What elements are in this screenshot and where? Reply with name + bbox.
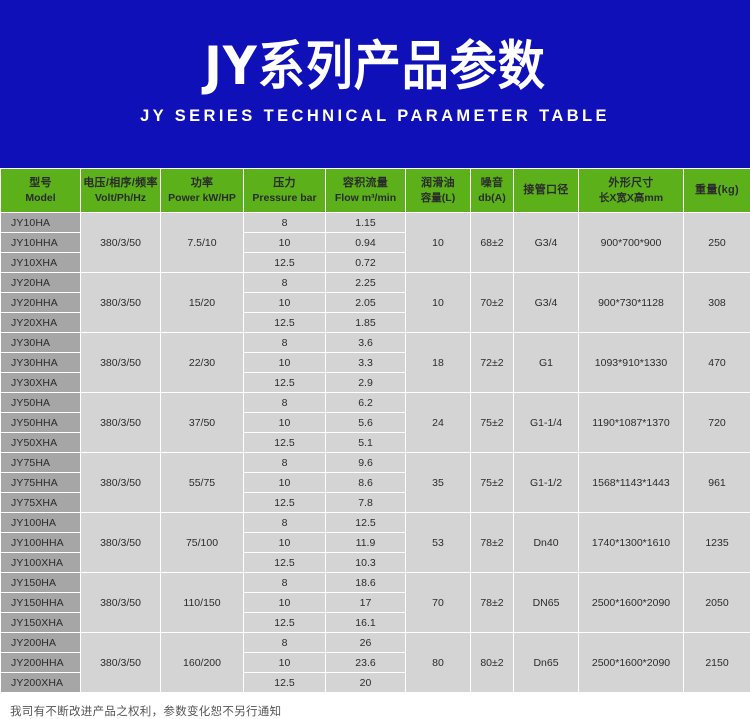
cell-pressure: 12.5 <box>244 433 326 453</box>
cell-pressure: 10 <box>244 233 326 253</box>
cell-pressure: 10 <box>244 653 326 673</box>
column-header-cn: 功率 <box>161 176 243 191</box>
cell-flow: 1.15 <box>326 213 406 233</box>
cell-power: 15/20 <box>161 273 244 333</box>
cell-flow: 0.94 <box>326 233 406 253</box>
cell-noise: 75±2 <box>471 453 514 513</box>
cell-pipe: G1-1/2 <box>514 453 579 513</box>
column-header-en: Volt/Ph/Hz <box>81 191 160 205</box>
cell-pressure: 12.5 <box>244 253 326 273</box>
cell-model: JY10HA <box>1 213 81 233</box>
cell-noise: 72±2 <box>471 333 514 393</box>
column-header-5: 润滑油容量(L) <box>406 169 471 213</box>
table-row: JY50HA380/3/5037/5086.22475±2G1-1/41190*… <box>1 393 750 413</box>
column-header-7: 接管口径 <box>514 169 579 213</box>
cell-model: JY150HA <box>1 573 81 593</box>
column-header-en: db(A) <box>471 191 513 205</box>
cell-flow: 23.6 <box>326 653 406 673</box>
cell-pressure: 10 <box>244 413 326 433</box>
column-header-0: 型号Model <box>1 169 81 213</box>
cell-model: JY20XHA <box>1 313 81 333</box>
cell-model: JY75HHA <box>1 473 81 493</box>
column-header-2: 功率Power kW/HP <box>161 169 244 213</box>
cell-flow: 20 <box>326 673 406 693</box>
column-header-8: 外形尺寸长X宽X高mm <box>579 169 684 213</box>
cell-pipe: G1-1/4 <box>514 393 579 453</box>
cell-pipe: DN65 <box>514 573 579 633</box>
cell-pipe: Dn65 <box>514 633 579 693</box>
cell-model: JY50HHA <box>1 413 81 433</box>
cell-model: JY10HHA <box>1 233 81 253</box>
cell-model: JY20HHA <box>1 293 81 313</box>
column-header-9: 重量(kg) <box>684 169 750 213</box>
cell-power: 37/50 <box>161 393 244 453</box>
cell-noise: 80±2 <box>471 633 514 693</box>
table-row: JY200HA380/3/50160/2008268080±2Dn652500*… <box>1 633 750 653</box>
cell-pressure: 8 <box>244 573 326 593</box>
column-header-4: 容积流量Flow m³/min <box>326 169 406 213</box>
cell-model: JY30HA <box>1 333 81 353</box>
cell-model: JY75XHA <box>1 493 81 513</box>
cell-model: JY150HHA <box>1 593 81 613</box>
column-header-en: Pressure bar <box>244 191 325 205</box>
cell-oil: 10 <box>406 273 471 333</box>
footer-note: 我司有不断改进产品之权利，参数变化恕不另行通知 <box>0 693 750 719</box>
cell-flow: 2.9 <box>326 373 406 393</box>
cell-voltage: 380/3/50 <box>81 573 161 633</box>
cell-power: 160/200 <box>161 633 244 693</box>
cell-flow: 26 <box>326 633 406 653</box>
cell-oil: 80 <box>406 633 471 693</box>
cell-dimensions: 2500*1600*2090 <box>579 633 684 693</box>
cell-oil: 10 <box>406 213 471 273</box>
cell-flow: 3.3 <box>326 353 406 373</box>
cell-voltage: 380/3/50 <box>81 513 161 573</box>
cell-voltage: 380/3/50 <box>81 213 161 273</box>
table-header: 型号Model电压/相序/频率Volt/Ph/Hz功率Power kW/HP压力… <box>1 169 750 213</box>
cell-flow: 5.6 <box>326 413 406 433</box>
cell-flow: 8.6 <box>326 473 406 493</box>
column-header-cn: 容积流量 <box>326 176 405 191</box>
table-header-row: 型号Model电压/相序/频率Volt/Ph/Hz功率Power kW/HP压力… <box>1 169 750 213</box>
cell-weight: 2150 <box>684 633 750 693</box>
cell-pressure: 8 <box>244 453 326 473</box>
table-body: JY10HA380/3/507.5/1081.151068±2G3/4900*7… <box>1 213 750 693</box>
cell-model: JY100HA <box>1 513 81 533</box>
cell-pipe: G3/4 <box>514 213 579 273</box>
cell-noise: 78±2 <box>471 513 514 573</box>
cell-power: 110/150 <box>161 573 244 633</box>
cell-model: JY10XHA <box>1 253 81 273</box>
cell-flow: 2.05 <box>326 293 406 313</box>
cell-oil: 53 <box>406 513 471 573</box>
cell-voltage: 380/3/50 <box>81 633 161 693</box>
table-row: JY100HA380/3/5075/100812.55378±2Dn401740… <box>1 513 750 533</box>
cell-flow: 9.6 <box>326 453 406 473</box>
cell-flow: 18.6 <box>326 573 406 593</box>
cell-flow: 10.3 <box>326 553 406 573</box>
cell-dimensions: 900*730*1128 <box>579 273 684 333</box>
cell-model: JY50HA <box>1 393 81 413</box>
cell-weight: 470 <box>684 333 750 393</box>
cell-flow: 5.1 <box>326 433 406 453</box>
cell-pressure: 12.5 <box>244 313 326 333</box>
cell-weight: 961 <box>684 453 750 513</box>
cell-power: 75/100 <box>161 513 244 573</box>
column-header-en: Model <box>1 191 80 205</box>
cell-pipe: Dn40 <box>514 513 579 573</box>
column-header-1: 电压/相序/频率Volt/Ph/Hz <box>81 169 161 213</box>
cell-noise: 78±2 <box>471 573 514 633</box>
cell-model: JY75HA <box>1 453 81 473</box>
table-row: JY75HA380/3/5055/7589.63575±2G1-1/21568*… <box>1 453 750 473</box>
table-row: JY30HA380/3/5022/3083.61872±2G11093*910*… <box>1 333 750 353</box>
cell-power: 55/75 <box>161 453 244 513</box>
cell-weight: 2050 <box>684 573 750 633</box>
cell-weight: 308 <box>684 273 750 333</box>
column-header-cn: 噪音 <box>471 176 513 191</box>
cell-power: 7.5/10 <box>161 213 244 273</box>
cell-pressure: 8 <box>244 633 326 653</box>
cell-model: JY200HA <box>1 633 81 653</box>
column-header-en: Power kW/HP <box>161 191 243 205</box>
column-header-6: 噪音db(A) <box>471 169 514 213</box>
column-header-cn: 压力 <box>244 176 325 191</box>
cell-model: JY20HA <box>1 273 81 293</box>
cell-pressure: 10 <box>244 593 326 613</box>
cell-pressure: 12.5 <box>244 553 326 573</box>
cell-oil: 18 <box>406 333 471 393</box>
cell-flow: 6.2 <box>326 393 406 413</box>
cell-pressure: 10 <box>244 473 326 493</box>
cell-weight: 1235 <box>684 513 750 573</box>
cell-voltage: 380/3/50 <box>81 333 161 393</box>
cell-dimensions: 1093*910*1330 <box>579 333 684 393</box>
cell-model: JY150XHA <box>1 613 81 633</box>
cell-voltage: 380/3/50 <box>81 273 161 333</box>
cell-flow: 12.5 <box>326 513 406 533</box>
column-header-cn: 润滑油 <box>406 176 470 191</box>
column-header-cn: 重量(kg) <box>684 183 750 198</box>
column-header-3: 压力Pressure bar <box>244 169 326 213</box>
cell-flow: 1.85 <box>326 313 406 333</box>
cell-model: JY100HHA <box>1 533 81 553</box>
cell-oil: 35 <box>406 453 471 513</box>
spec-table: 型号Model电压/相序/频率Volt/Ph/Hz功率Power kW/HP压力… <box>0 168 750 693</box>
cell-power: 22/30 <box>161 333 244 393</box>
cell-dimensions: 1568*1143*1443 <box>579 453 684 513</box>
table-row: JY10HA380/3/507.5/1081.151068±2G3/4900*7… <box>1 213 750 233</box>
cell-noise: 75±2 <box>471 393 514 453</box>
cell-pressure: 8 <box>244 213 326 233</box>
cell-flow: 0.72 <box>326 253 406 273</box>
column-header-cn: 外形尺寸 <box>579 176 683 191</box>
cell-oil: 70 <box>406 573 471 633</box>
cell-pressure: 12.5 <box>244 493 326 513</box>
cell-dimensions: 1190*1087*1370 <box>579 393 684 453</box>
cell-flow: 7.8 <box>326 493 406 513</box>
spec-table-wrapper: 型号Model电压/相序/频率Volt/Ph/Hz功率Power kW/HP压力… <box>0 168 750 693</box>
cell-pressure: 8 <box>244 393 326 413</box>
cell-oil: 24 <box>406 393 471 453</box>
cell-model: JY30HHA <box>1 353 81 373</box>
cell-pressure: 12.5 <box>244 613 326 633</box>
banner-subtitle: JY SERIES TECHNICAL PARAMETER TABLE <box>140 107 610 126</box>
table-row: JY20HA380/3/5015/2082.251070±2G3/4900*73… <box>1 273 750 293</box>
cell-voltage: 380/3/50 <box>81 393 161 453</box>
cell-model: JY30XHA <box>1 373 81 393</box>
column-header-en: Flow m³/min <box>326 191 405 205</box>
cell-weight: 720 <box>684 393 750 453</box>
cell-pressure: 8 <box>244 333 326 353</box>
cell-noise: 68±2 <box>471 213 514 273</box>
cell-pressure: 12.5 <box>244 673 326 693</box>
cell-weight: 250 <box>684 213 750 273</box>
cell-pressure: 8 <box>244 273 326 293</box>
cell-voltage: 380/3/50 <box>81 453 161 513</box>
cell-pressure: 12.5 <box>244 373 326 393</box>
cell-flow: 3.6 <box>326 333 406 353</box>
column-header-en: 长X宽X高mm <box>579 191 683 205</box>
column-header-cn: 电压/相序/频率 <box>81 176 160 191</box>
cell-pressure: 10 <box>244 293 326 313</box>
cell-dimensions: 1740*1300*1610 <box>579 513 684 573</box>
cell-model: JY200HHA <box>1 653 81 673</box>
table-row: JY150HA380/3/50110/150818.67078±2DN65250… <box>1 573 750 593</box>
cell-model: JY100XHA <box>1 553 81 573</box>
cell-pressure: 10 <box>244 533 326 553</box>
cell-pressure: 10 <box>244 353 326 373</box>
cell-pipe: G1 <box>514 333 579 393</box>
column-header-cn: 接管口径 <box>514 183 578 198</box>
cell-dimensions: 900*700*900 <box>579 213 684 273</box>
column-header-en: 容量(L) <box>406 191 470 205</box>
cell-flow: 17 <box>326 593 406 613</box>
banner-title: JY系列产品参数 <box>204 39 546 94</box>
cell-flow: 16.1 <box>326 613 406 633</box>
cell-noise: 70±2 <box>471 273 514 333</box>
column-header-cn: 型号 <box>1 176 80 191</box>
cell-flow: 2.25 <box>326 273 406 293</box>
banner: JY系列产品参数 JY SERIES TECHNICAL PARAMETER T… <box>0 0 750 168</box>
product-spec-page: JY系列产品参数 JY SERIES TECHNICAL PARAMETER T… <box>0 0 750 701</box>
cell-model: JY200XHA <box>1 673 81 693</box>
cell-pressure: 8 <box>244 513 326 533</box>
cell-flow: 11.9 <box>326 533 406 553</box>
cell-dimensions: 2500*1600*2090 <box>579 573 684 633</box>
cell-model: JY50XHA <box>1 433 81 453</box>
cell-pipe: G3/4 <box>514 273 579 333</box>
